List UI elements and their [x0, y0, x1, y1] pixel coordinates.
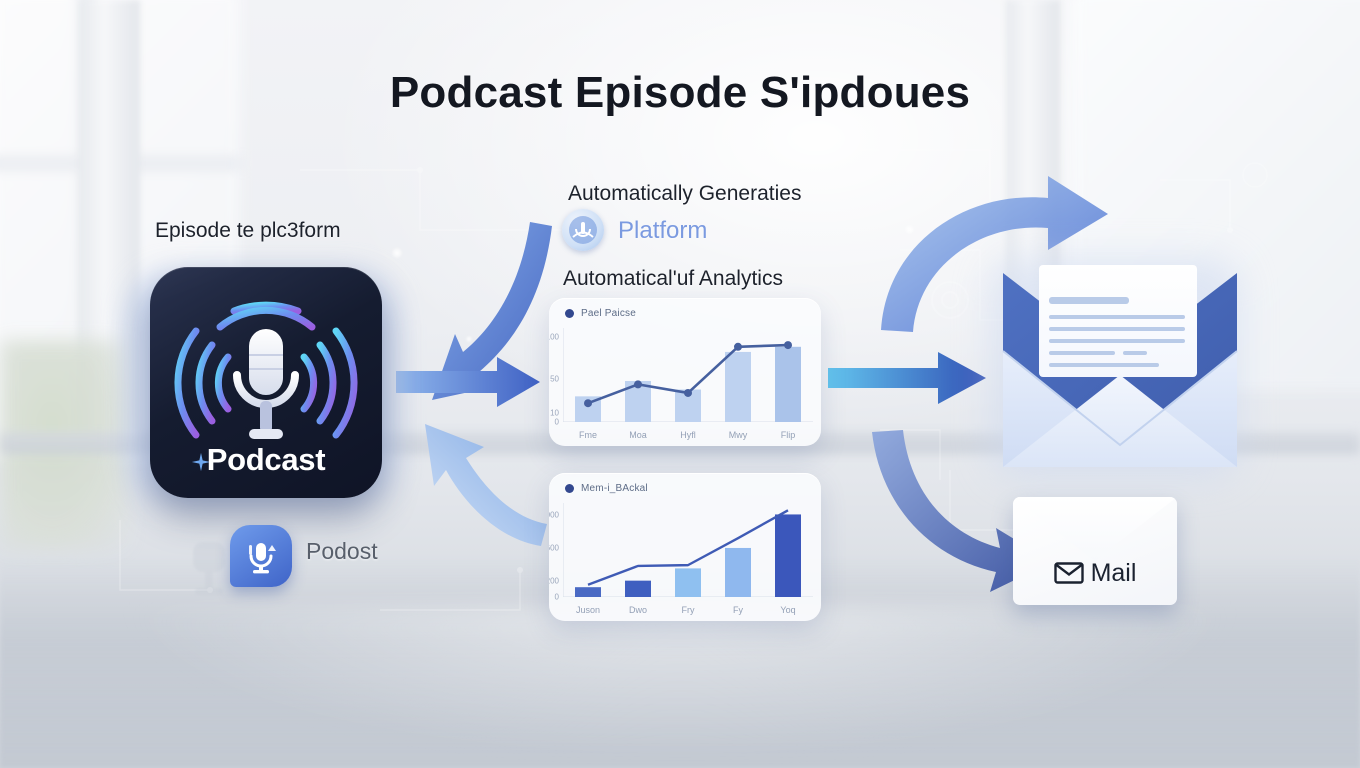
- arrow-curved-up-left: [425, 424, 547, 546]
- y-tick-label: 600: [549, 543, 559, 552]
- arrow-straight-right-mail: [828, 352, 986, 404]
- chart-bottom-plot: 02006001000JusonDwoFryFyYoq: [563, 503, 813, 597]
- plot2-svg: [563, 503, 813, 597]
- analytics-card-top[interactable]: Pael Paicse 01050100FmeMoaHyflMwyFlip: [549, 298, 821, 446]
- analytics-card-bottom[interactable]: Mem-i_BAckal 02006001000JusonDwoFryFyYoq: [549, 473, 821, 621]
- bar: [775, 514, 801, 597]
- x-tick-label: Fy: [733, 605, 743, 615]
- x-tick-label: Mwy: [729, 430, 748, 440]
- line-marker: [584, 399, 592, 407]
- bar: [675, 568, 701, 597]
- line-marker: [784, 341, 792, 349]
- bar: [775, 347, 801, 422]
- podcast-broadcast-icon: [562, 209, 604, 251]
- x-tick-label: Fry: [682, 605, 695, 615]
- open-envelope-with-letter-icon[interactable]: [995, 255, 1245, 485]
- line-marker: [734, 343, 742, 351]
- line-marker: [684, 389, 692, 397]
- podcast-app-card[interactable]: Podcast: [150, 267, 382, 498]
- y-tick-label: 200: [549, 576, 559, 585]
- y-tick-label: 50: [550, 375, 559, 384]
- broadcast-glyph: [568, 215, 598, 245]
- line-marker: [634, 380, 642, 388]
- mail-card[interactable]: Mail: [1013, 497, 1177, 605]
- x-tick-label: Flip: [781, 430, 796, 440]
- legend-label: Mem-i_BAckal: [581, 483, 648, 494]
- legend-dot: [565, 484, 574, 493]
- y-tick-label: 10: [550, 409, 559, 418]
- plot1-svg: [563, 328, 813, 422]
- microphone-waves-icon: [150, 271, 382, 461]
- chart-top-plot: 01050100FmeMoaHyflMwyFlip: [563, 328, 813, 422]
- y-tick-label: 0: [555, 593, 559, 602]
- podost-label: Podost: [306, 538, 378, 565]
- mail-card-label: Mail: [1013, 559, 1177, 588]
- bar: [725, 548, 751, 597]
- podcast-card-label: Podcast: [150, 442, 382, 478]
- mail-card-flap: [1013, 497, 1177, 561]
- legend-label: Pael Paicse: [581, 308, 636, 319]
- bar: [575, 587, 601, 597]
- y-tick-label: 100: [549, 332, 559, 341]
- x-tick-label: Dwo: [629, 605, 647, 615]
- bar: [725, 352, 751, 422]
- bar: [625, 581, 651, 597]
- mail-label-text: Mail: [1091, 559, 1137, 587]
- caption-platform: Platform: [618, 217, 707, 245]
- caption-auto-generates: Automatically Generaties: [568, 182, 801, 206]
- chat-bubble-microphone-icon[interactable]: [230, 525, 292, 587]
- legend-dot: [565, 309, 574, 318]
- chart-bottom-legend: Mem-i_BAckal: [565, 483, 648, 494]
- chart-top-legend: Pael Paicse: [565, 308, 636, 319]
- x-tick-label: Juson: [576, 605, 600, 615]
- y-tick-label: 1000: [549, 511, 559, 520]
- caption-episode-platform: Episode te plc3form: [155, 219, 341, 243]
- microphone-glyph: [242, 537, 280, 575]
- x-tick-label: Hyfl: [680, 430, 696, 440]
- caption-auto-analytics: Automatical'uf Analytics: [563, 267, 783, 291]
- x-tick-label: Yoq: [780, 605, 795, 615]
- x-tick-label: Moa: [629, 430, 647, 440]
- x-tick-label: Fme: [579, 430, 597, 440]
- y-tick-label: 0: [555, 418, 559, 427]
- infographic-canvas: Podcast Episode S'ipdoues: [0, 0, 1360, 768]
- smart-speaker-icon: [185, 540, 233, 598]
- envelope-icon: [1054, 562, 1084, 584]
